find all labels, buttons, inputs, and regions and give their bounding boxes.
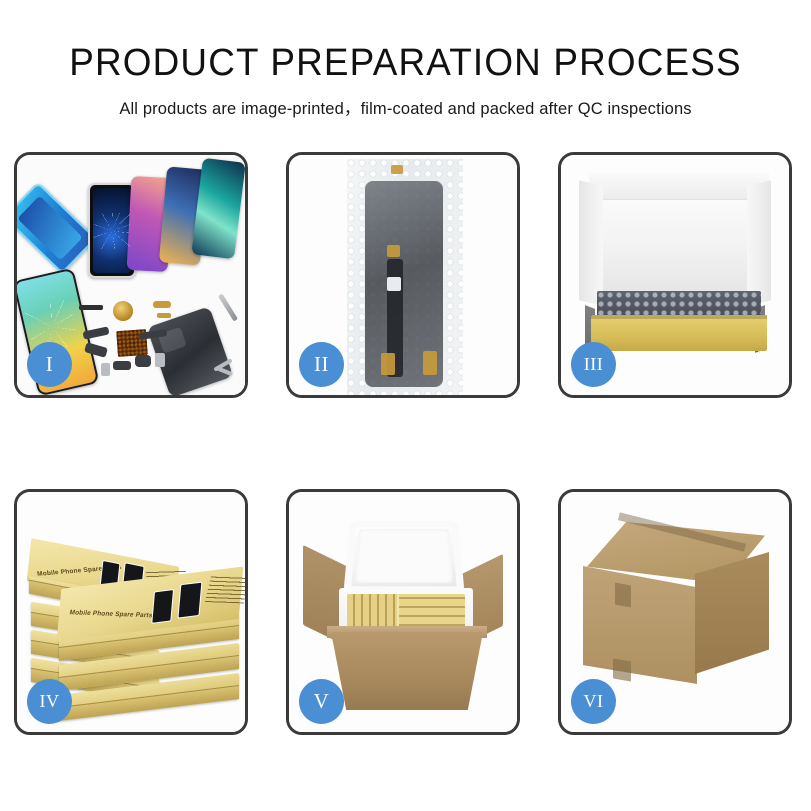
bubble-wrap-bag: [347, 159, 463, 395]
back-housing-icon: [147, 306, 233, 395]
tweezer-icon: [218, 293, 238, 321]
gold-bracket-icon: [157, 313, 171, 318]
blue-film-screen-icon: [17, 182, 97, 275]
sim-tray-icon: [101, 363, 110, 376]
metal-shield-icon: [155, 353, 165, 367]
gold-coil-icon: [113, 301, 133, 321]
panel-foam-carton[interactable]: V: [286, 489, 520, 735]
page-title: PRODUCT PREPARATION PROCESS: [12, 44, 799, 84]
small-part-icon: [79, 305, 103, 310]
carton-tape-upper: [615, 583, 631, 608]
speaker-icon: [135, 355, 151, 367]
box-window-screen-icon: [151, 589, 174, 624]
gold-connector-mid: [387, 245, 400, 257]
step-badge-iv: IV: [27, 679, 72, 724]
page-header: PRODUCT PREPARATION PROCESS All products…: [0, 0, 811, 119]
box-window-screen-icon: [177, 582, 202, 619]
gold-box-base: [591, 315, 767, 351]
step-badge-vi: VI: [571, 679, 616, 724]
gold-connector-top: [391, 165, 403, 174]
carton-body: [331, 632, 483, 710]
step-badge-i: I: [27, 342, 72, 387]
box-label-text: Mobile Phone Spare Parts: [69, 609, 153, 619]
white-box-lid: [589, 173, 769, 301]
page-subtitle: All products are image-printed，film-coat…: [0, 95, 811, 119]
lid-flap-left: [579, 180, 603, 306]
panel-sealed-carton[interactable]: VI: [558, 489, 792, 735]
step-badge-v: V: [299, 679, 344, 724]
step-badge-iii: III: [571, 342, 616, 387]
carton-front-face: [583, 566, 697, 684]
lid-flap-right: [747, 180, 771, 306]
panel-bubble-wrap[interactable]: II: [286, 152, 520, 398]
gold-connector-bottom-left: [381, 353, 395, 375]
box-spec-lines: [205, 576, 245, 604]
panel-parts-collage[interactable]: I: [14, 152, 248, 398]
flex-cable-icon: [113, 361, 131, 370]
process-panel-grid: I II III: [14, 152, 799, 735]
panel-stacked-boxes[interactable]: Mobile Phone Spare Parts Mobile Phone Sp…: [14, 489, 248, 735]
step-badge-ii: II: [299, 342, 344, 387]
gold-connector-icon: [153, 301, 171, 308]
gold-connector-bottom-right: [423, 351, 437, 375]
carton-tape-lower: [613, 658, 631, 681]
white-chip-in-bag: [387, 277, 401, 291]
foam-box-lid: [343, 521, 464, 594]
panel-open-gold-box[interactable]: III: [558, 152, 792, 398]
